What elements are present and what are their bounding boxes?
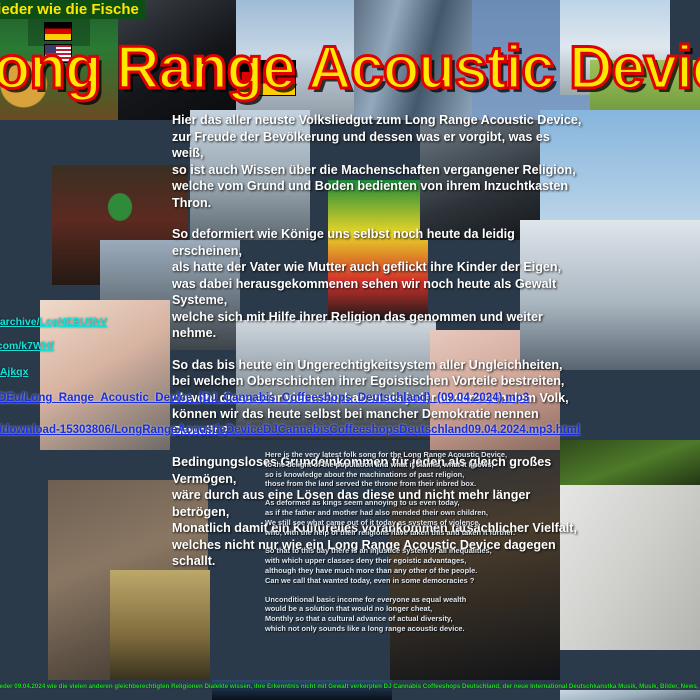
glass-facade-photo [354,0,472,120]
ticker-text: Lieder 09.04.2024 wie die vielen anderen… [0,682,700,692]
side-link-3[interactable]: JAjkqx [0,366,28,378]
bottom-ticker-bar: Lieder 09.04.2024 wie die vielen anderen… [0,682,700,692]
english-verse-3: So that to this day there is an injustic… [265,546,533,585]
english-verse-2: As deformed as kings seem annoying to us… [265,498,533,537]
poster-canvas: Lieder wie die Fische Long Range Acousti… [0,0,700,700]
german-verse-2: So deformiert wie Könige uns selbst noch… [172,226,584,342]
english-lyrics-block: Here is the very latest folk song for th… [265,450,533,643]
english-verse-4: Unconditional basic income for everyone … [265,595,533,634]
side-link-2[interactable]: e.com/k7WHf [0,340,54,352]
side-link-1[interactable]: d.com/archive/LcgNEBU5hV [0,316,107,328]
mp3-download-link[interactable]: o.com/LDEu/Long_Range_Acoustic_Device_(D… [0,392,529,404]
german-flag-icon [44,22,72,41]
german-verse-1: Hier das aller neuste Volksliedgut zum L… [172,112,584,211]
html-download-link[interactable]: pload.net/download-15303806/LongRangeAco… [0,424,580,436]
german-flag-icon [236,60,296,96]
page-headline: Lieder wie die Fische [0,0,145,19]
usa-flag-icon [44,44,72,63]
english-verse-1: Here is the very latest folk song for th… [265,450,533,489]
cannabis-jars-photo [110,570,210,680]
